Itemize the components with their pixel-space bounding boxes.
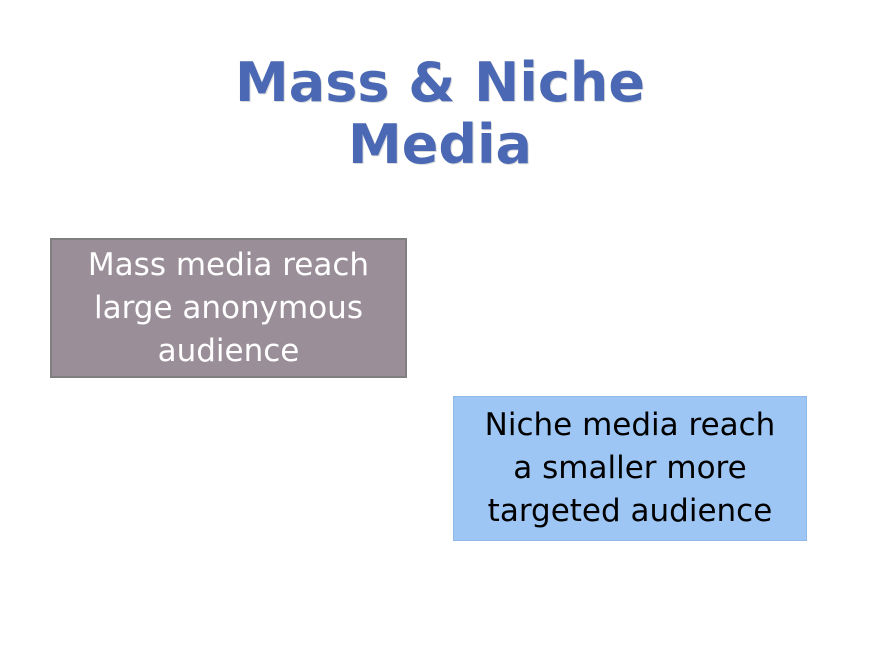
mass-media-text: Mass media reach large anonymous audienc…: [52, 244, 405, 373]
mass-media-text-box[interactable]: Mass media reach large anonymous audienc…: [50, 238, 407, 378]
page-title: Mass & Niche Media: [0, 52, 880, 176]
niche-media-text-box[interactable]: Niche media reach a smaller more targete…: [453, 396, 807, 541]
niche-media-text: Niche media reach a smaller more targete…: [454, 404, 806, 533]
slide-canvas: Mass & Niche Media Mass media reach larg…: [0, 0, 880, 660]
